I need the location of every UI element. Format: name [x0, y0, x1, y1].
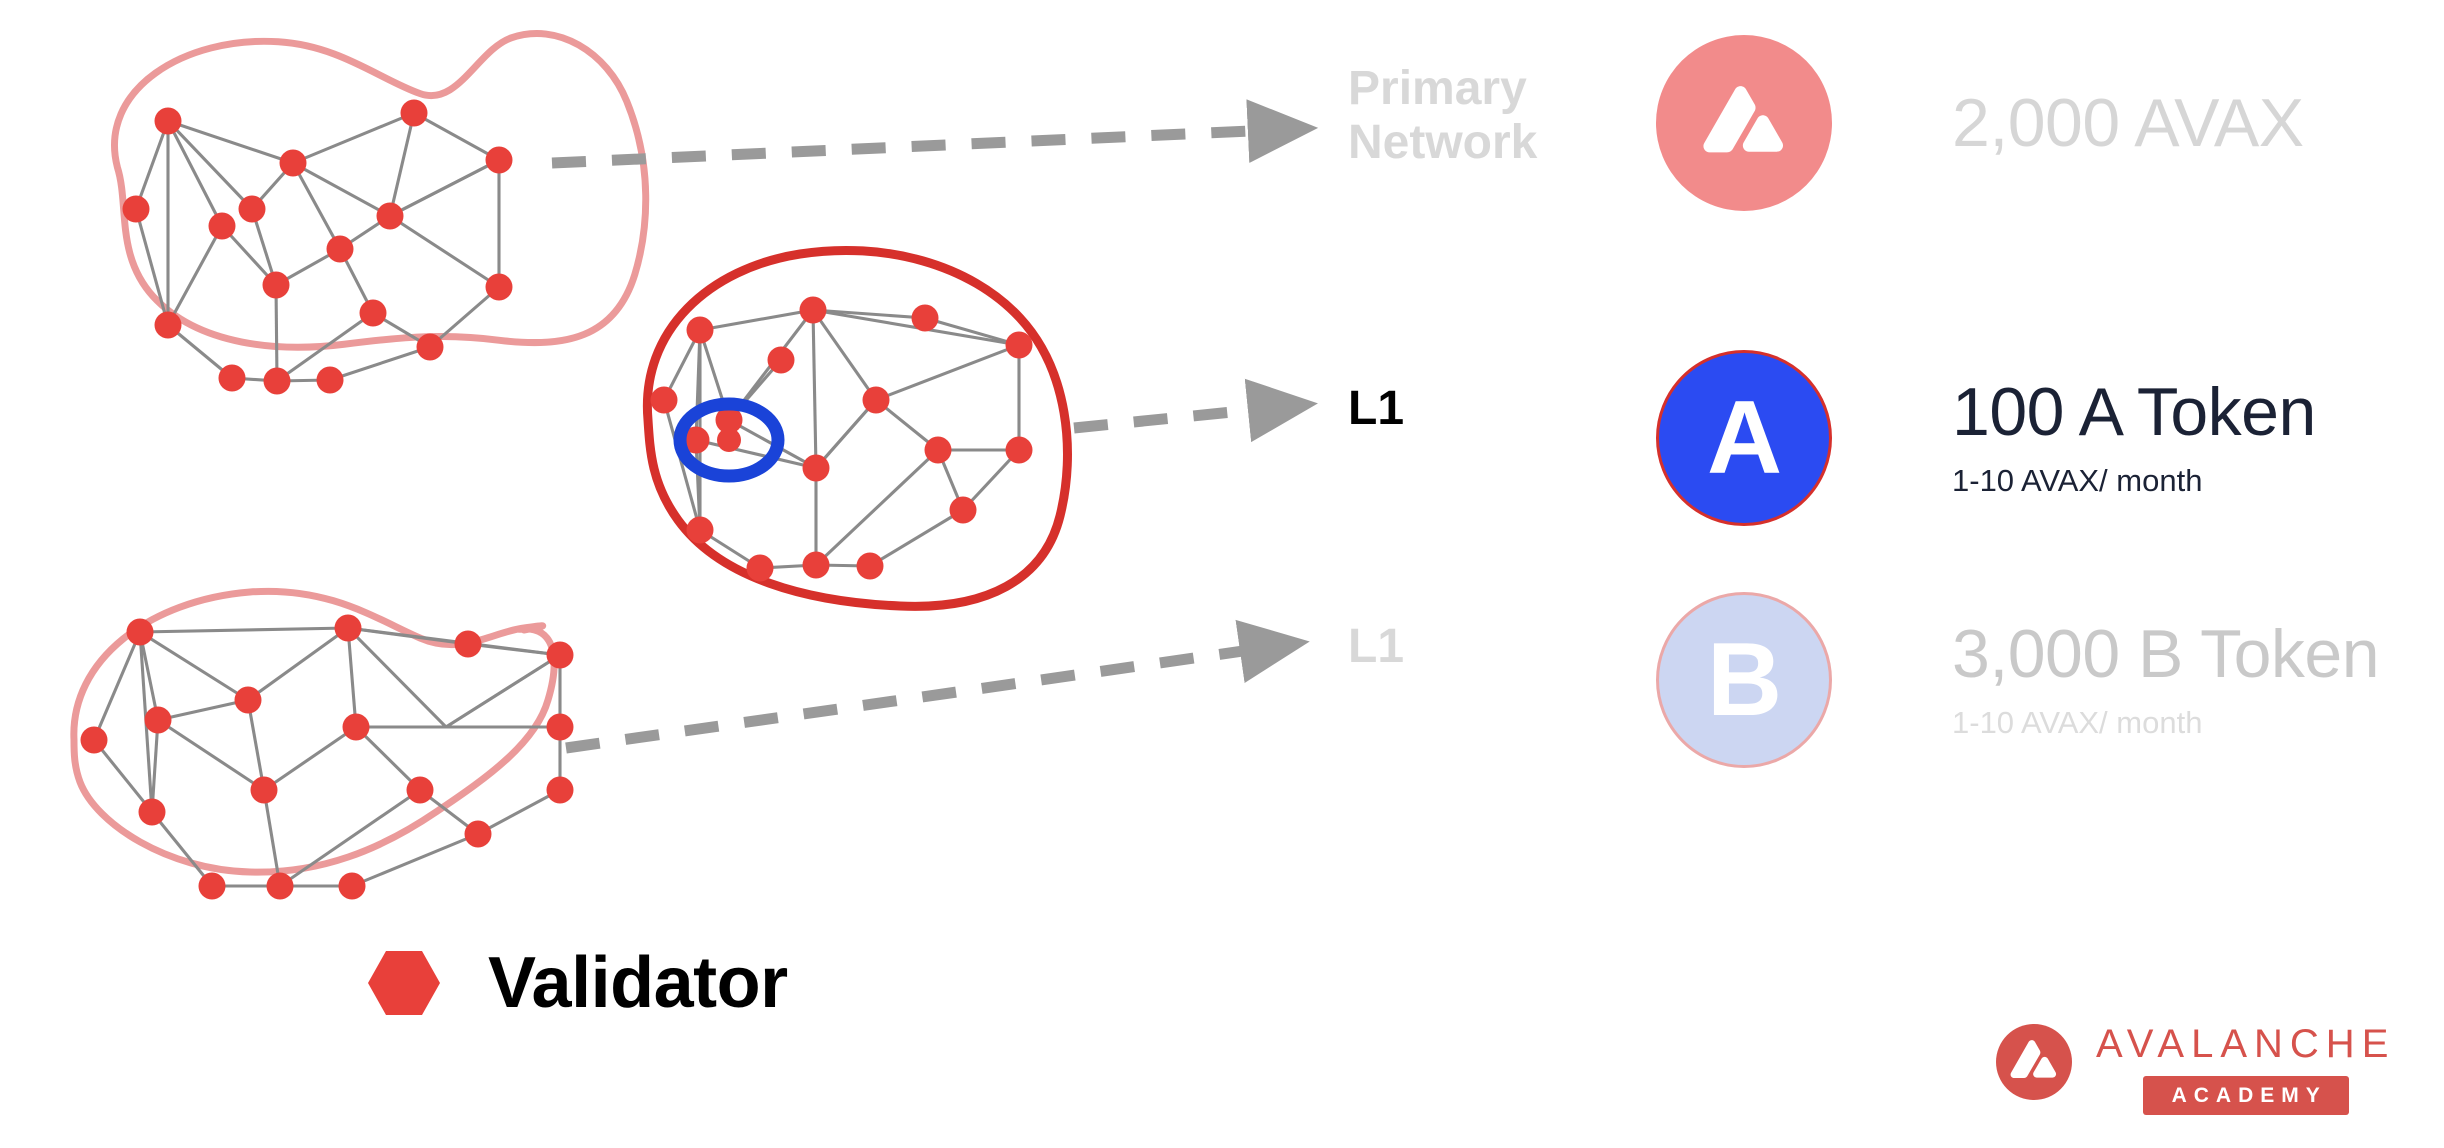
stake-row-text-primary-network: 2,000 AVAX: [1952, 87, 2304, 159]
token-badge-a: A: [1656, 350, 1832, 526]
logo-wordmark-block: AVALANCHE ACADEMY: [2096, 1022, 2395, 1115]
blob-outline-l1-a: [647, 250, 1067, 606]
connector-primary-network: [552, 130, 1272, 163]
validator-hexagon-icon: [368, 951, 440, 1015]
network-label-primary-network: Primary Network: [1348, 62, 1537, 170]
avalanche-logo-icon: [1996, 1024, 2072, 1100]
blob-outline-primary-network: [115, 33, 646, 347]
stake-title-primary-network: 2,000 AVAX: [1952, 87, 2304, 159]
blob-outline-l1-b: [74, 591, 554, 872]
stake-title-l1-b: 3,000 B Token: [1952, 618, 2379, 690]
legend: Validator: [368, 942, 788, 1024]
connector-l1-b: [566, 648, 1264, 748]
network-blob-primary-network: [115, 33, 646, 394]
stake-subtitle-l1-b: 1-10 AVAX/ month: [1952, 704, 2379, 741]
connector-l1-a: [1074, 408, 1272, 428]
graph-nodes-l1-a: [651, 297, 1033, 582]
network-blob-l1-b: [74, 591, 574, 899]
stake-row-l1-b: B 3,000 B Token 1-10 AVAX/ month: [1656, 592, 2379, 768]
graph-edges-l1-a: [664, 310, 1019, 568]
graph-nodes-l1-b: [81, 615, 574, 900]
token-badge-letter-a: A: [1707, 386, 1781, 490]
graph-edges-primary-network: [136, 113, 499, 381]
graph-edges-l1-b: [94, 628, 560, 886]
network-blob-l1-a: [647, 250, 1067, 606]
network-label-l1-b: L1: [1348, 620, 1404, 674]
logo-wordmark: AVALANCHE: [2096, 1022, 2395, 1066]
stake-row-primary-network: 2,000 AVAX: [1656, 35, 2304, 211]
token-badge-letter-b: B: [1707, 628, 1781, 732]
token-badge-b: B: [1656, 592, 1832, 768]
stake-row-text-l1-b: 3,000 B Token 1-10 AVAX/ month: [1952, 618, 2379, 741]
stake-subtitle-l1-a: 1-10 AVAX/ month: [1952, 462, 2316, 499]
avalanche-logo-icon: [1656, 35, 1832, 211]
stake-row-l1-a: A 100 A Token 1-10 AVAX/ month: [1656, 350, 2316, 526]
graph-nodes-primary-network: [123, 100, 513, 395]
highlighted-validator-ring: [680, 404, 778, 476]
avalanche-academy-logo: AVALANCHE ACADEMY: [1996, 1022, 2395, 1115]
network-label-l1-a: L1: [1348, 382, 1404, 436]
stake-row-text-l1-a: 100 A Token 1-10 AVAX/ month: [1952, 376, 2316, 499]
legend-label: Validator: [488, 942, 788, 1024]
diagram-canvas: Primary Network L1 L1 2,000 AVAX A 100 A…: [0, 0, 2444, 1148]
logo-academy-chip: ACADEMY: [2143, 1076, 2349, 1115]
stake-title-l1-a: 100 A Token: [1952, 376, 2316, 448]
